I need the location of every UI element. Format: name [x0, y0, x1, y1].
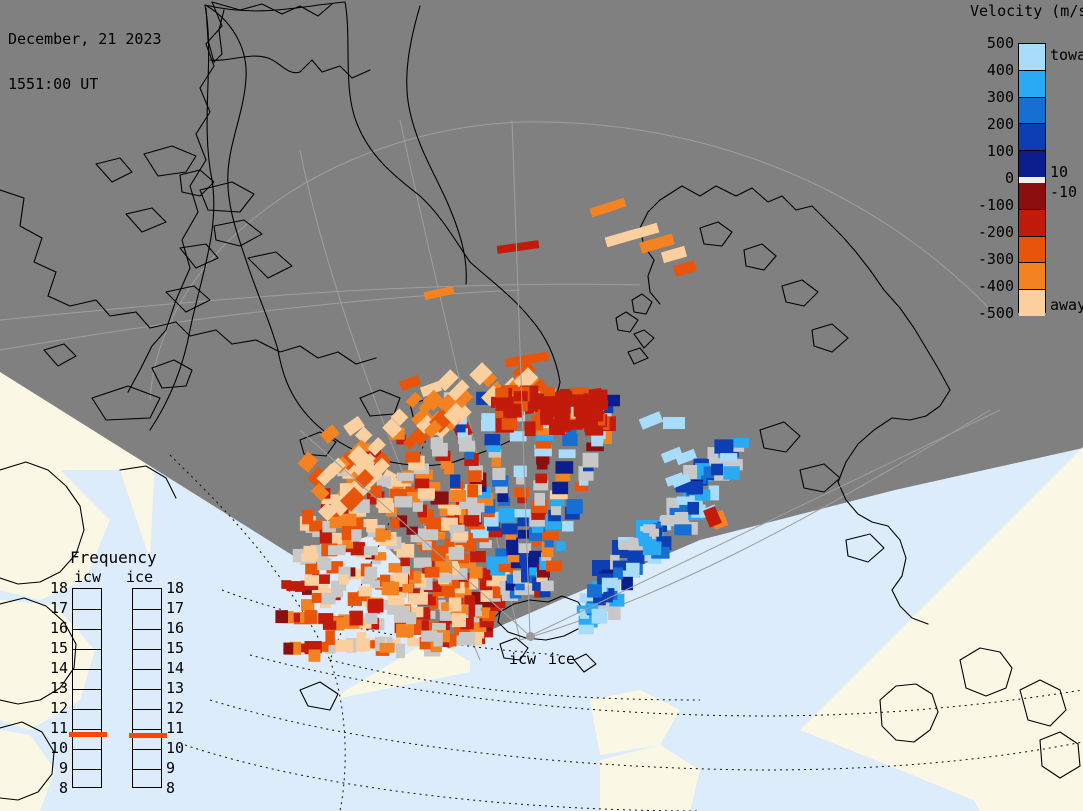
velocity-cell — [421, 529, 438, 540]
velocity-cell — [342, 526, 351, 540]
colorbar-tick: 500 — [987, 34, 1014, 52]
velocity-cell — [643, 542, 661, 556]
velocity-cell — [376, 528, 386, 542]
velocity-cell — [418, 488, 435, 498]
velocity-cell — [422, 541, 432, 550]
velocity-cell — [481, 413, 495, 425]
velocity-cell — [485, 434, 501, 445]
frequency-gridline — [73, 669, 101, 670]
velocity-cell — [402, 584, 413, 593]
frequency-scale-label: 13 — [166, 679, 184, 697]
frequency-scale-label: 16 — [166, 619, 184, 637]
velocity-colorbar-panel: Velocity (m/s) 5004003002001000-100-200-… — [930, 0, 1083, 340]
frequency-gridline — [133, 769, 161, 770]
velocity-cell — [566, 394, 586, 406]
velocity-cell — [469, 567, 482, 579]
velocity-cell — [402, 625, 414, 636]
velocity-cell — [602, 578, 618, 588]
velocity-cell — [405, 452, 420, 463]
frequency-scale-label: 10 — [48, 739, 68, 757]
velocity-cell — [559, 449, 576, 458]
velocity-cell — [499, 508, 516, 523]
velocity-cell — [382, 582, 399, 595]
colorbar-away-label: away — [1050, 296, 1083, 314]
velocity-cell — [449, 547, 464, 560]
frequency-scale-label: 9 — [166, 759, 175, 777]
velocity-cell — [439, 573, 451, 582]
frequency-scale-label: 18 — [166, 579, 184, 597]
colorbar-segment — [1019, 210, 1045, 237]
frequency-gridline — [73, 689, 101, 690]
frequency-scale-label: 11 — [48, 719, 68, 737]
velocity-cell — [467, 484, 478, 497]
frequency-scale-label: 13 — [48, 679, 68, 697]
velocity-cell — [675, 512, 689, 522]
velocity-cell — [649, 529, 659, 537]
frequency-gridline — [73, 729, 101, 730]
velocity-cell — [535, 474, 547, 484]
frequency-header-ice: ice — [126, 568, 153, 586]
colorbar-segment — [1019, 151, 1045, 177]
velocity-cell — [566, 499, 582, 514]
velocity-cell — [444, 588, 455, 599]
velocity-cell — [452, 613, 466, 627]
velocity-cell — [400, 558, 409, 567]
frequency-scale-label: 8 — [166, 779, 175, 797]
colorbar-tick: 400 — [987, 61, 1014, 79]
frequency-scale-label: 15 — [166, 639, 184, 657]
velocity-cell — [552, 482, 568, 494]
velocity-cell — [629, 538, 639, 550]
velocity-cell — [325, 630, 334, 645]
velocity-cell — [502, 418, 518, 430]
colorbar-tick: 100 — [987, 142, 1014, 160]
velocity-cell — [591, 411, 601, 421]
velocity-cell — [389, 563, 403, 573]
velocity-cell — [394, 614, 408, 623]
velocity-cell — [407, 638, 421, 647]
frequency-gridline — [133, 609, 161, 610]
colorbar-segment — [1019, 263, 1045, 290]
frequency-header-icw: icw — [74, 568, 101, 586]
velocity-cell — [540, 411, 553, 425]
velocity-cell — [391, 518, 400, 528]
velocity-cell — [544, 387, 555, 396]
velocity-cell — [583, 453, 599, 468]
frequency-scale-label: 12 — [166, 699, 184, 717]
frequency-gridline — [133, 749, 161, 750]
colorbar-tick: -400 — [978, 277, 1014, 295]
velocity-cell — [408, 593, 423, 603]
velocity-cell — [283, 643, 293, 655]
colorbar-tick-labels: 5004003002001000-100-200-300-400-500 — [930, 0, 1014, 340]
frequency-scale-label: 14 — [48, 659, 68, 677]
frequency-gridline — [73, 609, 101, 610]
velocity-cell — [546, 561, 562, 572]
velocity-cell — [714, 439, 733, 453]
frequency-bar-icw — [72, 588, 102, 788]
velocity-cell — [562, 521, 574, 531]
velocity-cell — [542, 532, 559, 540]
colorbar-tick: 200 — [987, 115, 1014, 133]
colorbar-tick: -300 — [978, 250, 1014, 268]
velocity-cell — [500, 396, 514, 407]
frequency-gridline — [133, 669, 161, 670]
velocity-cell — [554, 411, 569, 426]
velocity-cell — [365, 567, 378, 580]
velocity-cell — [365, 613, 377, 624]
colorbar-segment — [1019, 98, 1045, 125]
frequency-scale-label: 12 — [48, 699, 68, 717]
velocity-cell — [464, 515, 480, 526]
colorbar-segment — [1019, 44, 1045, 71]
colorbar-tick: -500 — [978, 304, 1014, 322]
site-label-icw: icw — [509, 650, 536, 668]
velocity-cell — [541, 581, 554, 592]
radar-site-marker — [526, 632, 535, 641]
frequency-marker-ice — [129, 733, 167, 738]
velocity-cell — [492, 468, 505, 480]
velocity-cell — [450, 475, 460, 488]
velocity-cell — [449, 525, 464, 533]
velocity-cell — [525, 421, 536, 436]
velocity-cell — [303, 546, 316, 555]
velocity-cell — [587, 584, 602, 597]
colorbar-segment — [1019, 237, 1045, 264]
velocity-cell — [328, 545, 346, 555]
velocity-cell — [431, 437, 444, 449]
frequency-gridline — [133, 629, 161, 630]
velocity-cell — [302, 510, 313, 524]
velocity-cell — [608, 607, 621, 620]
velocity-cell — [534, 394, 547, 410]
velocity-cell — [359, 586, 372, 596]
velocity-cell — [469, 579, 478, 590]
velocity-cell — [309, 650, 321, 662]
velocity-cell — [674, 524, 691, 535]
site-label-ice: ice — [548, 650, 575, 668]
velocity-cell — [459, 632, 475, 646]
velocity-cell — [518, 530, 530, 539]
colorbar-gradient — [1018, 43, 1046, 313]
velocity-cell — [688, 502, 700, 515]
frequency-scale-label: 8 — [48, 779, 68, 797]
velocity-cell — [339, 575, 349, 585]
velocity-cell — [687, 481, 704, 494]
velocity-cell — [514, 391, 528, 401]
frequency-gridline — [133, 729, 161, 730]
frequency-scale-label: 17 — [48, 599, 68, 617]
velocity-cell — [323, 621, 336, 630]
velocity-cell — [534, 493, 545, 506]
velocity-cell — [598, 390, 608, 403]
frequency-title: Frequency — [70, 548, 157, 567]
frequency-scale-label: 18 — [48, 579, 68, 597]
velocity-cell — [350, 611, 363, 626]
velocity-cell — [470, 551, 486, 562]
velocity-cell — [631, 551, 643, 559]
velocity-cell — [621, 577, 633, 590]
frequency-gridline — [73, 709, 101, 710]
velocity-cell — [578, 625, 594, 635]
velocity-cell — [364, 546, 378, 555]
frequency-scale-label: 15 — [48, 639, 68, 657]
date-label: December, 21 2023 — [8, 32, 162, 47]
colorbar-neg10-label: -10 — [1050, 183, 1077, 201]
frequency-legend: Frequency icw ice 1818171716161515141413… — [48, 548, 198, 793]
velocity-cell — [592, 609, 608, 624]
radar-plot-canvas: December, 21 2023 1551:00 UT Velocity (m… — [0, 0, 1083, 811]
frequency-gridline — [133, 709, 161, 710]
velocity-cell — [711, 464, 723, 476]
frequency-marker-icw — [69, 732, 107, 737]
velocity-cell — [331, 533, 342, 545]
velocity-cell — [396, 644, 405, 658]
frequency-bar-ice — [132, 588, 162, 788]
frequency-scale-label: 16 — [48, 619, 68, 637]
frequency-gridline — [73, 629, 101, 630]
velocity-cell — [397, 473, 414, 481]
frequency-scale-label: 9 — [48, 759, 68, 777]
colorbar-segment — [1019, 71, 1045, 98]
velocity-cell — [394, 496, 412, 507]
colorbar-segment — [1019, 290, 1045, 316]
velocity-cell — [368, 599, 384, 612]
velocity-cell — [421, 631, 437, 642]
velocity-cell — [322, 593, 336, 605]
velocity-cell — [340, 514, 356, 527]
velocity-cell — [305, 575, 320, 586]
frequency-scale-label: 11 — [166, 719, 184, 737]
velocity-cell — [720, 453, 737, 461]
velocity-cell — [731, 438, 749, 448]
velocity-cell — [304, 610, 317, 624]
velocity-cell — [514, 487, 530, 497]
velocity-cell — [449, 598, 462, 612]
frequency-gridline — [73, 769, 101, 770]
velocity-cell — [357, 632, 367, 644]
velocity-cell — [515, 509, 531, 517]
velocity-cell — [556, 461, 574, 474]
velocity-cell — [468, 470, 482, 482]
velocity-cell — [281, 580, 291, 589]
velocity-cell — [663, 417, 685, 429]
colorbar-tick: -200 — [978, 223, 1014, 241]
frequency-scale-label: 14 — [166, 659, 184, 677]
velocity-cell — [723, 466, 740, 480]
frequency-gridline — [73, 749, 101, 750]
colorbar-tick: -100 — [978, 196, 1014, 214]
velocity-cell — [556, 541, 566, 551]
velocity-cell — [275, 610, 288, 623]
frequency-gridline — [73, 649, 101, 650]
velocity-cell — [351, 529, 361, 542]
colorbar-toward-label: toward — [1050, 46, 1083, 64]
frequency-scale-label: 10 — [166, 739, 184, 757]
timestamp-block: December, 21 2023 1551:00 UT — [8, 2, 162, 122]
colorbar-segment — [1019, 124, 1045, 151]
velocity-cell — [317, 558, 331, 570]
time-label: 1551:00 UT — [8, 77, 162, 92]
colorbar-segment — [1019, 183, 1045, 210]
colorbar-pos10-label: 10 — [1050, 163, 1068, 181]
frequency-scale-label: 17 — [166, 599, 184, 617]
frequency-gridline — [133, 689, 161, 690]
velocity-cell — [425, 567, 440, 578]
velocity-cell — [380, 643, 395, 653]
velocity-cell — [414, 558, 432, 568]
velocity-cell — [510, 431, 527, 441]
velocity-cell — [449, 490, 466, 502]
velocity-cell — [437, 545, 448, 553]
colorbar-tick: 0 — [1005, 169, 1014, 187]
colorbar-tick: 300 — [987, 88, 1014, 106]
velocity-cell — [501, 524, 517, 535]
frequency-gridline — [133, 649, 161, 650]
velocity-cell — [495, 388, 508, 397]
velocity-cell — [426, 518, 442, 529]
velocity-cell — [415, 479, 430, 489]
velocity-cell — [569, 420, 583, 430]
velocity-cell — [626, 563, 640, 576]
